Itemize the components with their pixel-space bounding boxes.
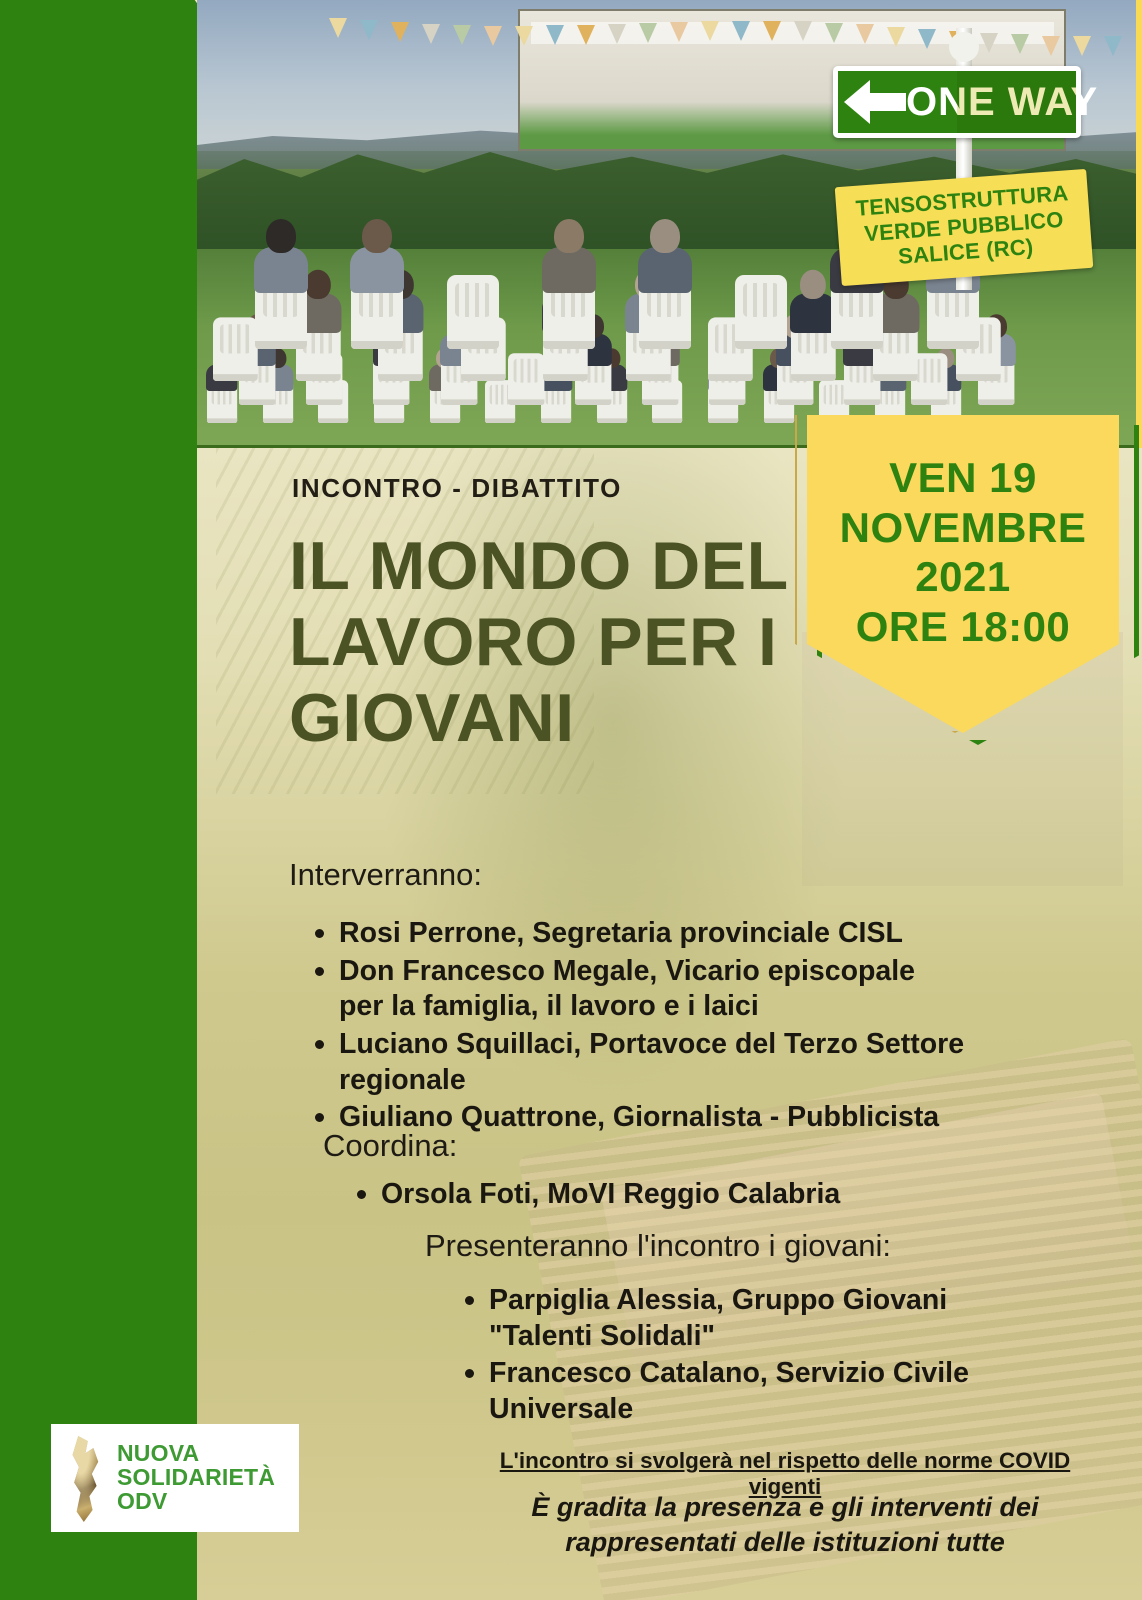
coordinator-heading: Coordina: [323, 1128, 457, 1164]
date-year: 2021 [915, 552, 1010, 602]
list-item: Rosi Perrone, Segretaria provinciale CIS… [305, 916, 965, 952]
arrow-left-icon [844, 80, 906, 124]
list-item: Parpiglia Alessia, Gruppo Giovani "Talen… [455, 1283, 1015, 1354]
speakers-list: Rosi Perrone, Segretaria provinciale CIS… [305, 916, 965, 1138]
list-item: Orsola Foti, MoVI Reggio Calabria [347, 1177, 947, 1213]
date-month: NOVEMBRE [840, 503, 1087, 553]
list-item: Francesco Catalano, Servizio Civile Univ… [455, 1356, 1015, 1427]
logo-line-1: NUOVA [117, 1442, 299, 1466]
speakers-heading: Interverranno: [289, 857, 482, 893]
organization-name: NUOVA SOLIDARIETÀ ODV [117, 1442, 299, 1514]
date-badge: VEN 19 NOVEMBRE 2021 ORE 18:00 [795, 415, 1142, 765]
sculpture-icon [59, 1432, 117, 1524]
one-way-label: ONE WAY [906, 82, 1108, 122]
one-way-sign: ONE WAY [833, 66, 1081, 138]
logo-line-2: SOLIDARIETÀ [117, 1466, 299, 1490]
location-plate: TENSOSTRUTTURA VERDE PUBBLICO SALICE (RC… [835, 169, 1094, 286]
organization-logo: NUOVA SOLIDARIETÀ ODV [51, 1424, 299, 1532]
date-day: VEN 19 [889, 453, 1037, 503]
event-poster: ONE WAY TENSOSTRUTTURA VERDE PUBBLICO SA… [0, 0, 1142, 1600]
closing-note: È gradita la presenza e gli interventi d… [455, 1490, 1115, 1559]
logo-line-3: ODV [117, 1490, 299, 1514]
presenters-list: Parpiglia Alessia, Gruppo Giovani "Talen… [455, 1283, 1015, 1430]
presenters-heading: Presenteranno l'incontro i giovani: [425, 1228, 891, 1264]
poster-kicker: INCONTRO - DIBATTITO [292, 473, 622, 504]
list-item: Luciano Squillaci, Portavoce del Terzo S… [305, 1027, 965, 1098]
list-item: Don Francesco Megale, Vicario episcopale… [305, 954, 965, 1025]
coordinators-list: Orsola Foti, MoVI Reggio Calabria [347, 1177, 947, 1215]
signpost-lamp-icon [949, 32, 979, 62]
poster-title: IL MONDO DEL LAVORO PER I GIOVANI [289, 528, 809, 756]
date-time: ORE 18:00 [856, 602, 1071, 652]
